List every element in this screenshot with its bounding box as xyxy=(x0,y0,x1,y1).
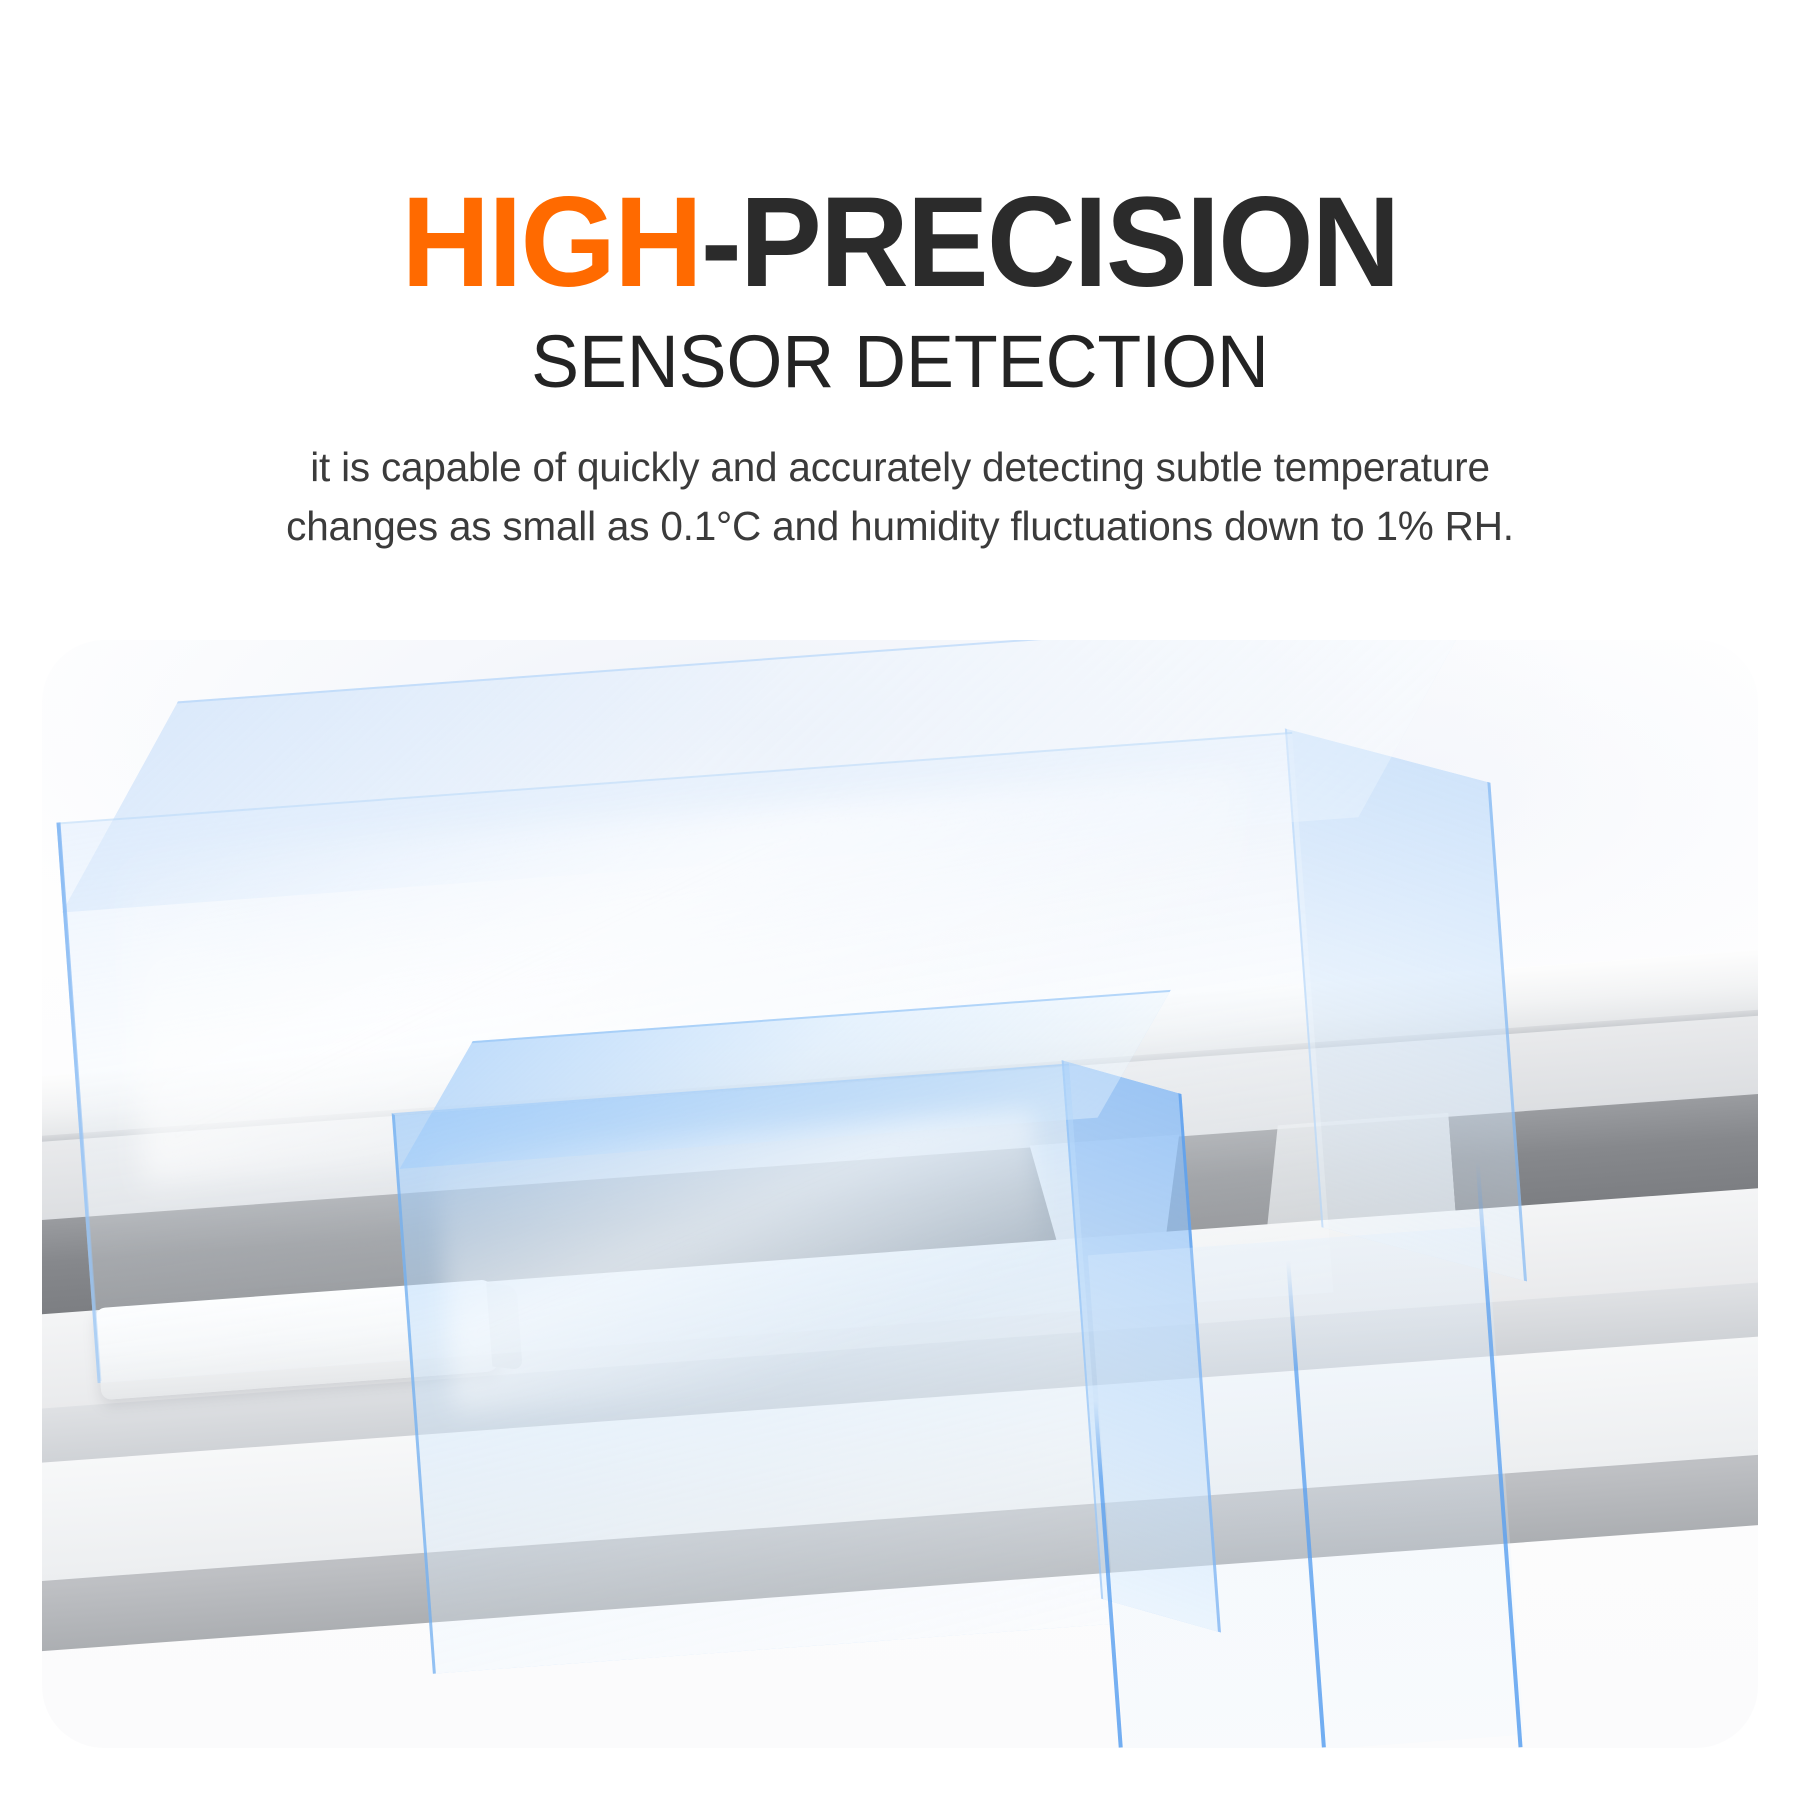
product-image-card xyxy=(42,640,1758,1748)
page-title: HIGH-PRECISION xyxy=(36,178,1764,309)
large-glass-top-face xyxy=(62,640,1475,912)
header-text-block: HIGH-PRECISION SENSOR DETECTION it is ca… xyxy=(0,0,1800,556)
page-title-accent: HIGH xyxy=(401,171,701,314)
promo-page: HIGH-PRECISION SENSOR DETECTION it is ca… xyxy=(0,0,1800,1800)
aluminium-rail xyxy=(42,944,1758,1748)
page-subtitle: SENSOR DETECTION xyxy=(27,323,1773,401)
description-line-1: it is capable of quickly and accurately … xyxy=(250,438,1550,497)
description-paragraph: it is capable of quickly and accurately … xyxy=(250,438,1550,556)
page-title-rest: -PRECISION xyxy=(701,171,1399,314)
description-line-2: changes as small as 0.1°C and humidity f… xyxy=(250,497,1550,556)
